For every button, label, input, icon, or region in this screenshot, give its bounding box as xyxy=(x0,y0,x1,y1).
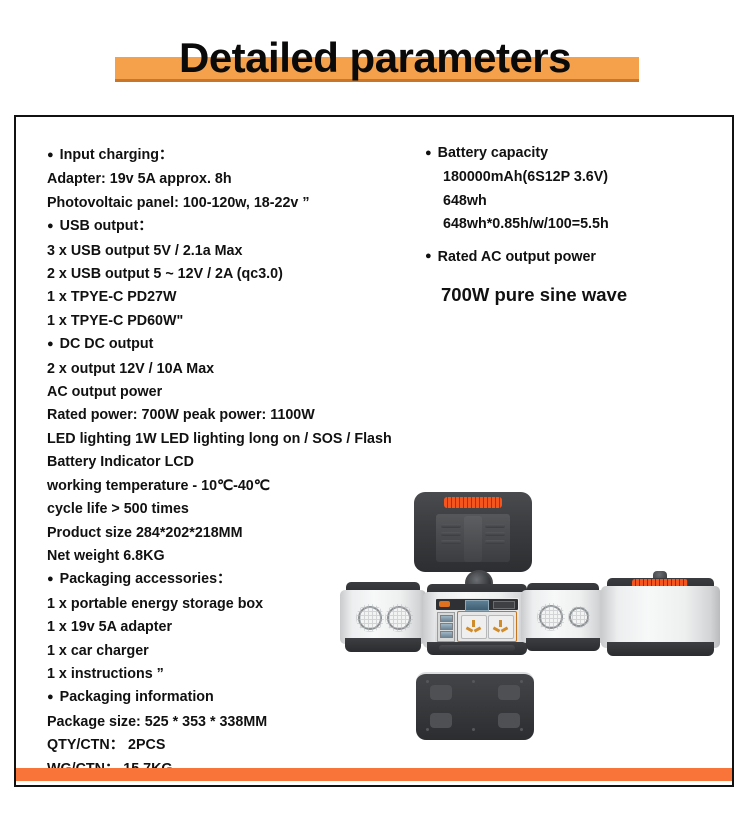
rated-ac-value: 700W pure sine wave xyxy=(425,282,627,308)
ac-outlet-group xyxy=(457,611,517,642)
product-vent-rib xyxy=(485,524,505,528)
screw-icon xyxy=(426,680,429,683)
page-title-area: Detailed parameters xyxy=(0,30,750,92)
usb-port-icon xyxy=(440,623,453,630)
vent-grid xyxy=(568,606,590,628)
usb-port-icon xyxy=(440,615,453,622)
outlet-pin xyxy=(474,627,482,633)
product-base xyxy=(607,642,714,656)
spec-line: 3 x USB output 5V / 2.1a Max xyxy=(47,240,392,263)
product-center-rib xyxy=(464,516,482,562)
screw-icon xyxy=(472,680,475,683)
panel-bottom-accent-bar xyxy=(16,768,732,781)
panel-label xyxy=(493,601,515,609)
battery-capacity-heading: Battery capacity xyxy=(425,142,627,166)
spec-line: 2 x output 12V / 10A Max xyxy=(47,358,392,381)
product-bottom-view-image xyxy=(416,672,534,740)
front-grip xyxy=(439,645,515,651)
spec-line: Rated power: 700W peak power: 1100W xyxy=(47,404,392,427)
vent-grid xyxy=(537,603,565,631)
spec-line: Input charging： xyxy=(47,144,392,168)
outlet-pin xyxy=(501,627,509,633)
product-vent-rib xyxy=(485,532,505,536)
spec-line: 1 x TPYE-C PD27W xyxy=(47,286,392,309)
spec-line: Battery Indicator LCD xyxy=(47,451,392,474)
product-body xyxy=(601,586,720,648)
vent-icon xyxy=(358,606,382,630)
spec-line: DC DC output xyxy=(47,333,392,357)
product-base xyxy=(526,638,600,651)
product-vent-rib xyxy=(441,524,461,528)
screw-icon xyxy=(520,680,523,683)
usb-port-group xyxy=(437,612,455,642)
rubber-foot-icon xyxy=(498,685,520,700)
rated-ac-heading: Rated AC output power xyxy=(425,246,627,270)
screw-icon xyxy=(426,728,429,731)
vent-icon xyxy=(539,605,563,629)
product-vent-rib xyxy=(441,540,461,544)
product-vent-rib xyxy=(441,532,461,536)
spec-line: AC output power xyxy=(47,381,392,404)
spec-panel: Input charging： Adapter: 19v 5A approx. … xyxy=(14,115,734,787)
orange-handle-icon xyxy=(444,497,502,508)
usb-port-icon xyxy=(440,631,453,638)
product-base xyxy=(345,638,421,652)
screw-icon xyxy=(520,728,523,731)
product-shell xyxy=(416,672,534,740)
page-title: Detailed parameters xyxy=(0,30,750,86)
rubber-foot-icon xyxy=(498,713,520,728)
vent-grid xyxy=(356,604,384,632)
product-image-cluster xyxy=(316,492,726,762)
spec-line: 2 x USB output 5 ~ 12V / 2A (qc3.0) xyxy=(47,263,392,286)
product-top-view-image xyxy=(414,492,532,572)
screw-icon xyxy=(472,728,475,731)
battery-runtime-value: 648wh*0.85h/w/100=5.5h xyxy=(425,213,627,236)
outlet-pin xyxy=(466,627,474,633)
spec-line: 1 x TPYE-C PD60W" xyxy=(47,310,392,333)
ac-outlet-icon xyxy=(488,615,514,639)
spec-line: LED lighting 1W LED lighting long on / S… xyxy=(47,428,392,451)
outlet-pin xyxy=(472,620,475,627)
battery-capacity-value: 180000mAh(6S12P 3.6V) xyxy=(425,166,627,189)
vent-icon xyxy=(387,606,411,630)
power-button-icon xyxy=(439,601,450,607)
spec-line: Adapter: 19v 5A approx. 8h xyxy=(47,168,392,191)
product-left-side-view-image xyxy=(340,576,426,658)
product-right-side-view-image xyxy=(521,578,605,658)
battery-energy-value: 648wh xyxy=(425,190,627,213)
outlet-pin xyxy=(499,620,502,627)
spec-line: Photovoltaic panel: 100-120w, 18-22v ” xyxy=(47,192,392,215)
rubber-foot-icon xyxy=(430,713,452,728)
vent-icon xyxy=(569,607,589,627)
right-spec-column: Battery capacity 180000mAh(6S12P 3.6V) 6… xyxy=(425,142,627,308)
ac-outlet-icon xyxy=(461,615,487,639)
outlet-pin xyxy=(493,627,501,633)
product-front-view-image xyxy=(421,570,533,658)
lcd-display xyxy=(465,600,489,611)
vent-grid xyxy=(385,604,413,632)
rubber-foot-icon xyxy=(430,685,452,700)
product-back-view-image xyxy=(599,568,722,660)
spec-line: USB output： xyxy=(47,215,392,239)
product-vent-rib xyxy=(485,540,505,544)
